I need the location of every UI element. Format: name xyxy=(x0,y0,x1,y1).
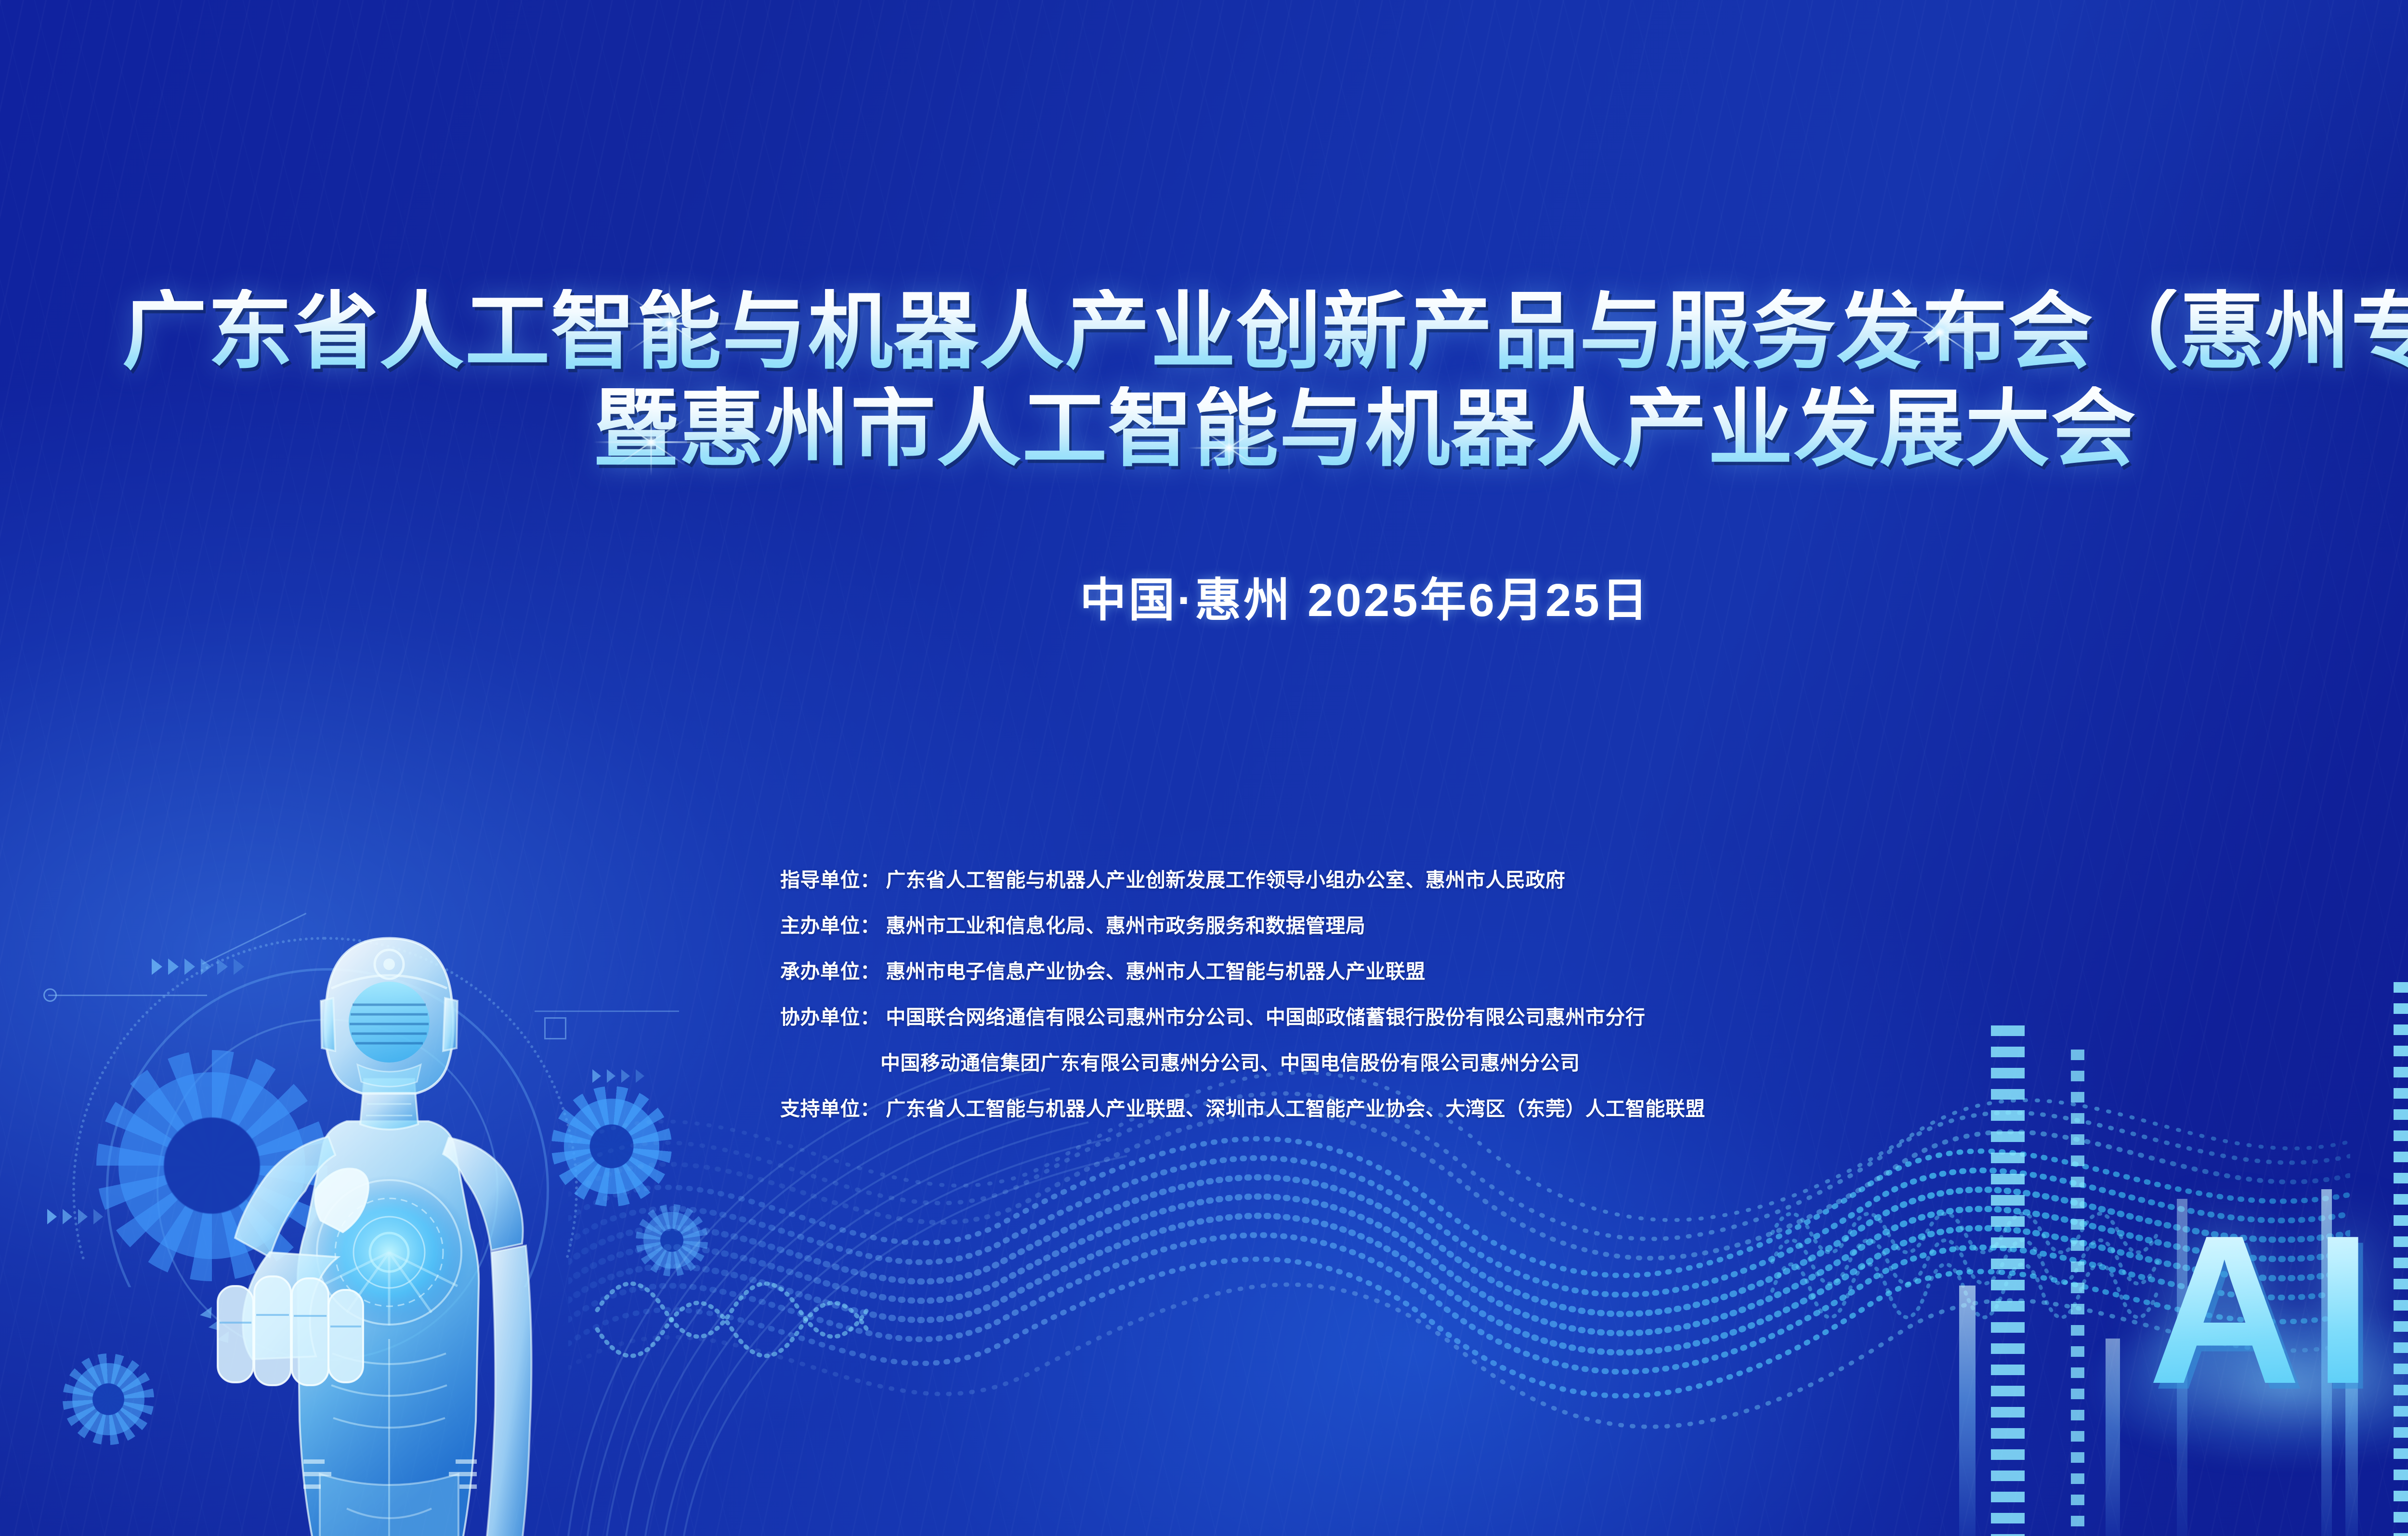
credit-value: 广东省人工智能与机器人产业联盟、深圳市人工智能产业协会、大湾区（东莞）人工智能联… xyxy=(886,1098,1705,1120)
ai-logo: AI xyxy=(2148,1209,2408,1435)
ai-logo-text: AI xyxy=(2148,1209,2408,1411)
credit-label: 协办单位： xyxy=(780,995,880,1040)
humanoid-robot-illustration xyxy=(202,920,578,1536)
credit-value: 中国联合网络通信有限公司惠州市分公司、中国邮政储蓄银行股份有限公司惠州市分行 xyxy=(886,1006,1645,1028)
credit-row: 承办单位： 惠州市电子信息产业协会、惠州市人工智能与机器人产业联盟 xyxy=(780,949,2032,995)
credit-value: 惠州市工业和信息化局、惠州市政务服务和数据管理局 xyxy=(886,915,1365,937)
eq-bar xyxy=(1959,1286,1976,1536)
hud-line-node xyxy=(43,988,57,1002)
credit-label: 承办单位： xyxy=(780,949,880,995)
credits-block: 指导单位： 广东省人工智能与机器人产业创新发展工作领导小组办公室、惠州市人民政府… xyxy=(780,857,2032,1132)
banner-stage: AI 广东省人工智能与机器人产业创新产品与服务发布会（惠州专场） 暨惠州市人工智… xyxy=(0,0,2408,1536)
chevron-arrows-left xyxy=(47,1209,103,1224)
credit-row: 主办单位： 惠州市工业和信息化局、惠州市政务服务和数据管理局 xyxy=(780,903,2032,949)
gear-icon-tertiary xyxy=(63,1353,154,1445)
credit-row: 中国移动通信集团广东有限公司惠州分公司、中国电信股份有限公司惠州分公司 xyxy=(780,1040,2032,1086)
credit-value: 广东省人工智能与机器人产业创新发展工作领导小组办公室、惠州市人民政府 xyxy=(886,869,1565,891)
eq-bar xyxy=(2071,1050,2084,1536)
title-line-2: 暨惠州市人工智能与机器人产业发展大会 xyxy=(0,386,2408,473)
credit-row: 支持单位： 广东省人工智能与机器人产业联盟、深圳市人工智能产业协会、大湾区（东莞… xyxy=(780,1086,2032,1132)
credit-value: 惠州市电子信息产业协会、惠州市人工智能与机器人产业联盟 xyxy=(886,960,1426,983)
credit-row: 协办单位： 中国联合网络通信有限公司惠州市分公司、中国邮政储蓄银行股份有限公司惠… xyxy=(780,995,2032,1040)
credit-label: 指导单位： xyxy=(780,857,880,903)
credit-label: 主办单位： xyxy=(780,903,880,949)
title-line-1: 广东省人工智能与机器人产业创新产品与服务发布会（惠州专场） xyxy=(0,289,2408,376)
credit-label: 支持单位： xyxy=(780,1086,880,1132)
hud-line-horizontal xyxy=(48,995,207,996)
subtitle-location-date: 中国·惠州 2025年6月25日 xyxy=(0,563,2408,630)
title-block: 广东省人工智能与机器人产业创新产品与服务发布会（惠州专场） 暨惠州市人工智能与机… xyxy=(0,289,2408,473)
credit-row: 指导单位： 广东省人工智能与机器人产业创新发展工作领导小组办公室、惠州市人民政府 xyxy=(780,857,2032,903)
credit-value: 中国移动通信集团广东有限公司惠州分公司、中国电信股份有限公司惠州分公司 xyxy=(880,1052,1580,1074)
